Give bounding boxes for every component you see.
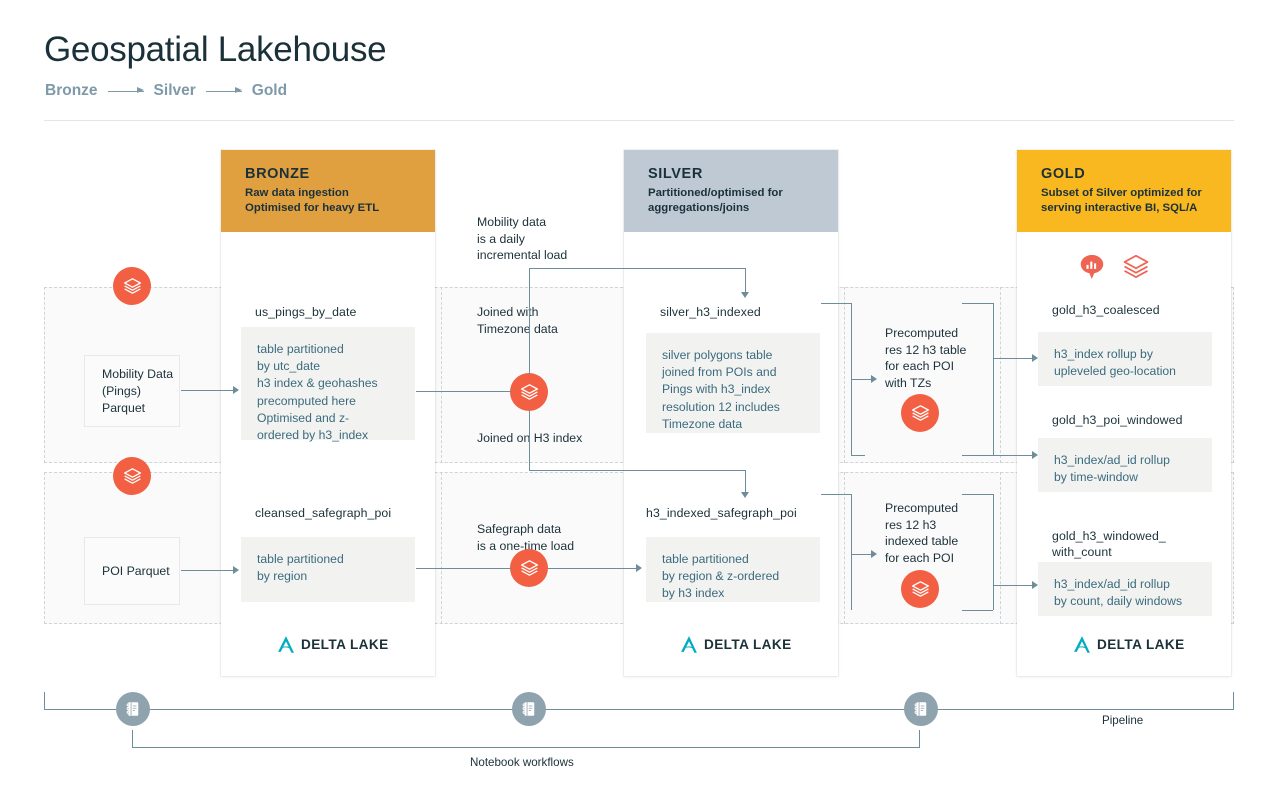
header-divider	[44, 120, 1234, 121]
databricks-outline-icon	[1121, 252, 1151, 282]
notebook-rail	[132, 747, 920, 748]
stage-desc-gold-line1: Subset of Silver optimized for	[1041, 186, 1213, 201]
stage-header-gold: GOLD Subset of Silver optimized for serv…	[1017, 150, 1231, 232]
band-separator	[1000, 472, 1001, 624]
stage-desc-bronze-line1: Raw data ingestion	[245, 186, 417, 201]
delta-lake-logo-silver: DELTA LAKE	[679, 634, 792, 654]
connector-to-precomputed-tz	[851, 379, 872, 380]
page-title: Geospatial Lakehouse	[44, 30, 386, 70]
connector-join-to-safegraph	[529, 470, 745, 471]
arrow-right-icon	[871, 550, 877, 558]
arrow-right-icon	[233, 386, 239, 394]
notebook-icon	[512, 692, 546, 726]
connector-gold-bracket2-bottom	[962, 610, 993, 611]
gold-tool-icons	[1077, 252, 1151, 282]
table-desc-gold-h3-coalesced: h3_index rollup by upleveled geo-locatio…	[1038, 332, 1212, 386]
arrow-right-icon	[1032, 354, 1038, 362]
delta-lake-logo-bronze: DELTA LAKE	[276, 634, 389, 654]
stage-name-silver: SILVER	[648, 166, 820, 182]
note-mobility-load: Mobility data is a daily incremental loa…	[477, 214, 567, 264]
pipeline-label: Pipeline	[1102, 714, 1143, 727]
connector-gold-bracket2-top	[962, 494, 993, 495]
notebook-rail-left-end	[132, 730, 133, 748]
connector-join-up	[529, 268, 530, 374]
connector-to-gold-coalesced	[993, 358, 1032, 359]
notebook-workflows-label: Notebook workflows	[470, 756, 574, 769]
arrow-right-icon	[108, 91, 144, 92]
table-name-silver-h3-indexed: silver_h3_indexed	[660, 304, 761, 320]
connector-silver-bracket2-v	[851, 494, 852, 610]
connector-gold-bracket-v	[993, 303, 994, 455]
connector-poi-to-bronze	[181, 570, 233, 571]
arrow-right-icon	[206, 91, 242, 92]
connector-bronze-to-join	[416, 391, 512, 392]
arrow-right-icon	[233, 566, 239, 574]
connector-to-gold-windowed-count	[993, 585, 1032, 586]
table-name-cleansed-safegraph-poi: cleansed_safegraph_poi	[255, 505, 391, 521]
note-joined-timezone: Joined with Timezone data	[477, 304, 558, 337]
table-name-us-pings-by-date: us_pings_by_date	[255, 304, 356, 320]
stage-name-bronze: BRONZE	[245, 166, 417, 182]
databricks-icon	[510, 373, 548, 411]
source-box-poi-parquet: POI Parquet	[84, 537, 180, 605]
arrow-right-icon	[1032, 451, 1038, 459]
arrow-right-icon	[871, 375, 877, 383]
delta-lake-logo-gold: DELTA LAKE	[1072, 634, 1185, 654]
notebook-icon	[116, 692, 150, 726]
connector-gold-bracket2-v	[993, 494, 994, 610]
connector-silver-bracket2-top	[821, 494, 851, 495]
delta-lake-label: DELTA LAKE	[301, 637, 389, 652]
connector-silver-bracket-top	[821, 303, 851, 304]
band-separator	[441, 472, 442, 624]
band-separator	[441, 287, 442, 463]
flow-label-bronze: Bronze	[45, 82, 98, 100]
arrow-down-icon	[741, 292, 749, 298]
delta-lake-icon	[679, 634, 699, 654]
delta-lake-icon	[276, 634, 296, 654]
note-precomputed-tz: Precomputed res 12 h3 table for each POI…	[885, 325, 966, 391]
pipeline-rail-right-end	[1233, 692, 1234, 710]
connector-into-safegraph-poi	[745, 470, 746, 494]
table-name-gold-h3-windowed-with-count: gold_h3_windowed_ with_count	[1052, 528, 1166, 560]
table-desc-gold-h3-poi-windowed: h3_index/ad_id rollup by time-window	[1038, 438, 1212, 492]
connector-into-silver-h3	[745, 268, 746, 294]
stage-desc-bronze-line2: Optimised for heavy ETL	[245, 201, 417, 216]
table-name-gold-h3-poi-windowed: gold_h3_poi_windowed	[1052, 412, 1183, 428]
pipeline-rail	[44, 709, 1234, 710]
connector-gold-bracket-mid	[962, 455, 993, 456]
note-precomputed-poi: Precomputed res 12 h3 indexed table for …	[885, 500, 958, 566]
databricks-icon	[901, 394, 939, 432]
stage-desc-silver-line2: aggregations/joins	[648, 201, 820, 216]
notebook-rail-right-end	[919, 730, 920, 748]
band-separator	[844, 287, 845, 463]
table-desc-silver-h3-indexed: silver polygons table joined from POIs a…	[646, 333, 820, 433]
flow-label-silver: Silver	[154, 82, 196, 100]
band-separator	[1000, 287, 1001, 463]
delta-lake-label: DELTA LAKE	[704, 637, 792, 652]
databricks-icon	[113, 267, 151, 305]
stage-header-bronze: BRONZE Raw data ingestion Optimised for …	[221, 150, 435, 232]
databricks-icon	[510, 549, 548, 587]
source-box-mobility-data: Mobility Data (Pings) Parquet	[84, 355, 180, 427]
connector-hub-to-silver-safegraph	[548, 568, 636, 569]
table-desc-cleansed-safegraph-poi: table partitioned by region	[241, 537, 415, 602]
stage-name-gold: GOLD	[1041, 166, 1213, 182]
flow-label-gold: Gold	[252, 82, 287, 100]
bi-dashboard-icon	[1077, 252, 1107, 282]
arrow-right-icon	[636, 564, 642, 572]
table-name-h3-indexed-safegraph-poi: h3_indexed_safegraph_poi	[646, 505, 797, 521]
databricks-icon	[901, 570, 939, 608]
notebook-icon	[904, 692, 938, 726]
pipeline-rail-left-end	[44, 692, 45, 710]
stage-desc-silver-line1: Partitioned/optimised for	[648, 186, 820, 201]
delta-lake-icon	[1072, 634, 1092, 654]
arrow-down-icon	[741, 492, 749, 498]
table-name-gold-h3-coalesced: gold_h3_coalesced	[1052, 302, 1160, 318]
connector-join-to-silver-top	[529, 268, 745, 269]
table-desc-h3-indexed-safegraph-poi: table partitioned by region & z-ordered …	[646, 537, 820, 602]
stage-desc-gold-line2: serving interactive BI, SQL/A	[1041, 201, 1213, 216]
connector-mobility-to-bronze	[181, 390, 233, 391]
arrow-right-icon	[1032, 581, 1038, 589]
databricks-icon	[113, 457, 151, 495]
connector-to-gold-poi-windowed	[993, 455, 1032, 456]
stage-header-silver: SILVER Partitioned/optimised for aggrega…	[624, 150, 838, 232]
delta-lake-label: DELTA LAKE	[1097, 637, 1185, 652]
connector-silver-bracket-bottom	[851, 455, 865, 456]
connector-gold-bracket-top	[962, 303, 993, 304]
table-desc-gold-h3-windowed-with-count: h3_index/ad_id rollup by count, daily wi…	[1038, 562, 1212, 616]
connector-join-down-2	[529, 446, 530, 470]
connector-to-precomputed-poi	[851, 554, 872, 555]
stage-flow-subtitle: Bronze Silver Gold	[45, 82, 287, 100]
table-desc-us-pings-by-date: table partitioned by utc_date h3 index &…	[241, 327, 415, 440]
connector-cleansed-to-hub	[416, 568, 512, 569]
